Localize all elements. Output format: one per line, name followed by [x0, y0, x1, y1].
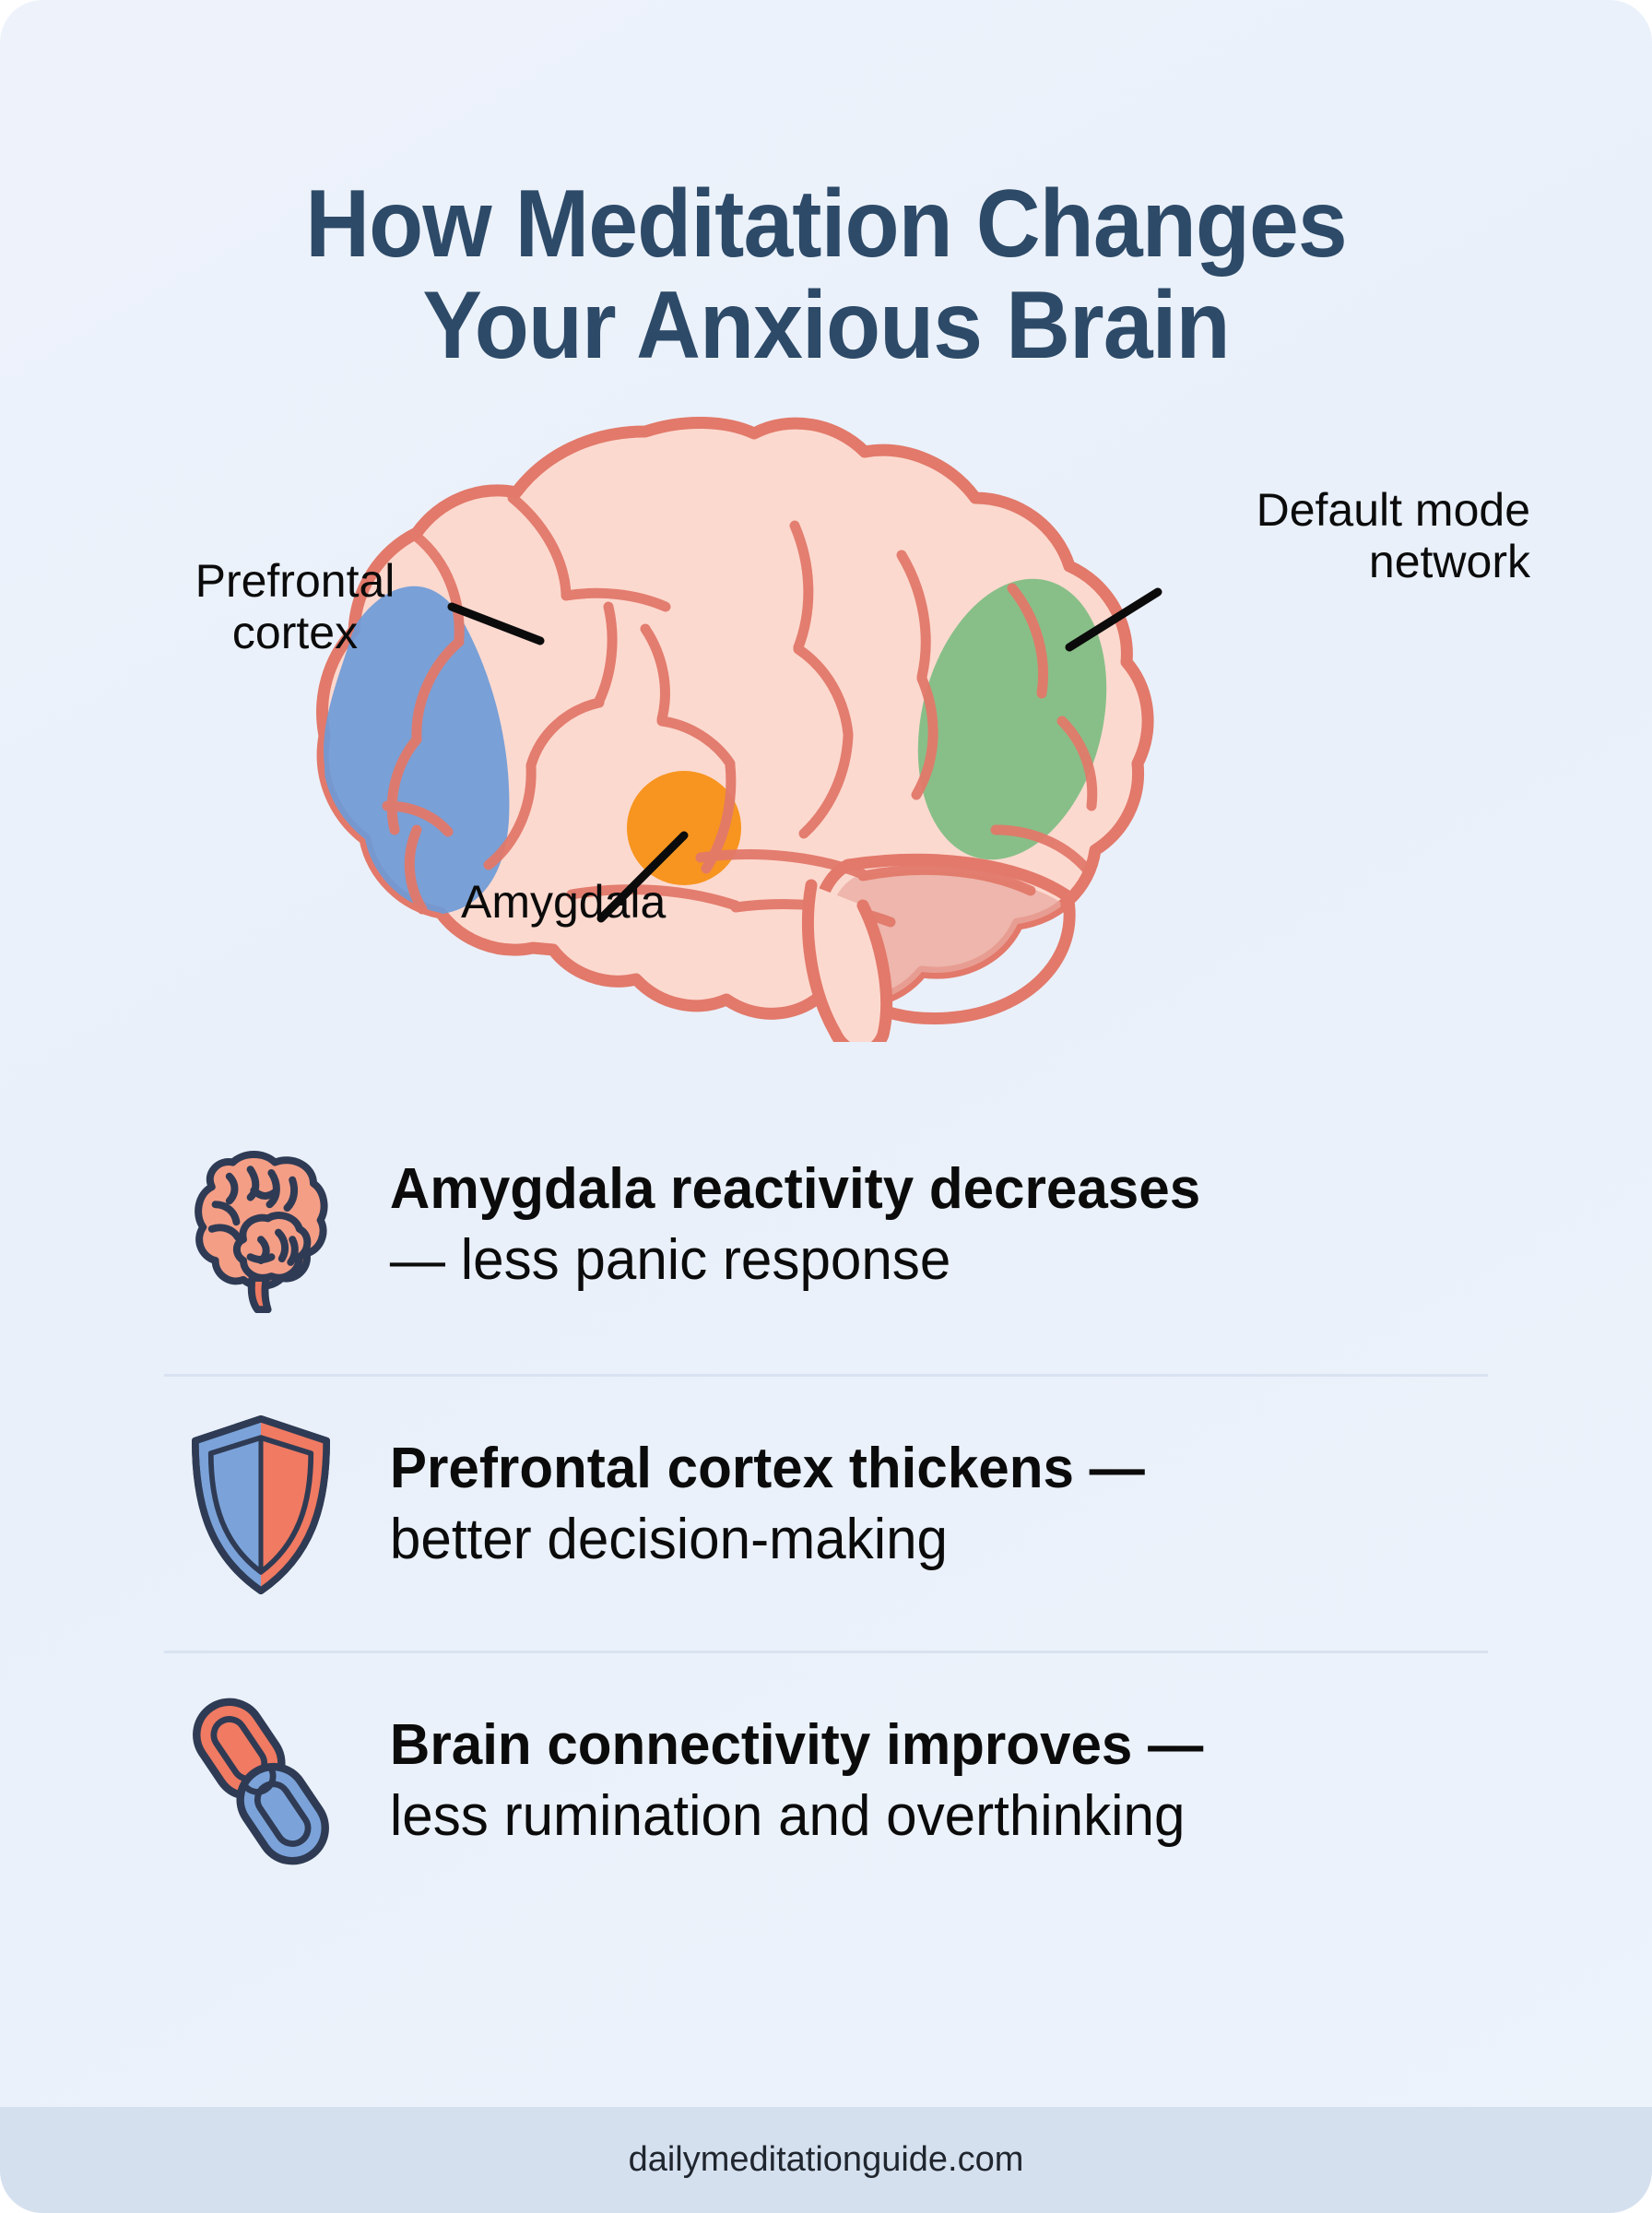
chain-link-icon: [164, 1685, 358, 1878]
list-item-subtitle: better decision-making: [390, 1505, 1454, 1576]
title-line-2: Your Anxious Brain: [58, 275, 1595, 376]
list-item: Amygdala reactivity decreases — less pan…: [164, 1097, 1488, 1374]
infographic-card: How Meditation Changes Your Anxious Brai…: [0, 0, 1652, 2213]
annotation-amygdala: Amygdala: [461, 876, 774, 928]
brain-diagram: Prefrontal cortex Default mode network A…: [0, 396, 1652, 1042]
annotation-prefrontal-cortex: Prefrontal cortex: [138, 555, 452, 658]
list-item-title: Prefrontal cortex thickens —: [390, 1434, 1454, 1505]
brain-icon: [164, 1129, 358, 1322]
list-item-title: Brain connectivity improves —: [390, 1710, 1454, 1781]
footer-bar: dailymeditationguide.com: [0, 2107, 1652, 2213]
list-item-text: Amygdala reactivity decreases — less pan…: [358, 1154, 1454, 1296]
list-item-text: Brain connectivity improves — less rumin…: [358, 1710, 1454, 1852]
list-item-text: Prefrontal cortex thickens — better deci…: [358, 1434, 1454, 1576]
list-item-title: Amygdala reactivity decreases: [390, 1154, 1454, 1225]
title-line-1: How Meditation Changes: [58, 173, 1595, 275]
list-item-subtitle: — less panic response: [390, 1225, 1454, 1296]
benefits-list: Amygdala reactivity decreases — less pan…: [164, 1097, 1488, 1927]
list-item: Brain connectivity improves — less rumin…: [164, 1651, 1488, 1927]
annotation-default-mode-network: Default mode network: [1143, 484, 1530, 587]
list-item: Prefrontal cortex thickens — better deci…: [164, 1374, 1488, 1651]
page-title: How Meditation Changes Your Anxious Brai…: [58, 173, 1595, 376]
shield-icon: [164, 1408, 358, 1602]
footer-url: dailymeditationguide.com: [629, 2140, 1024, 2180]
list-item-subtitle: less rumination and overthinking: [390, 1781, 1454, 1852]
